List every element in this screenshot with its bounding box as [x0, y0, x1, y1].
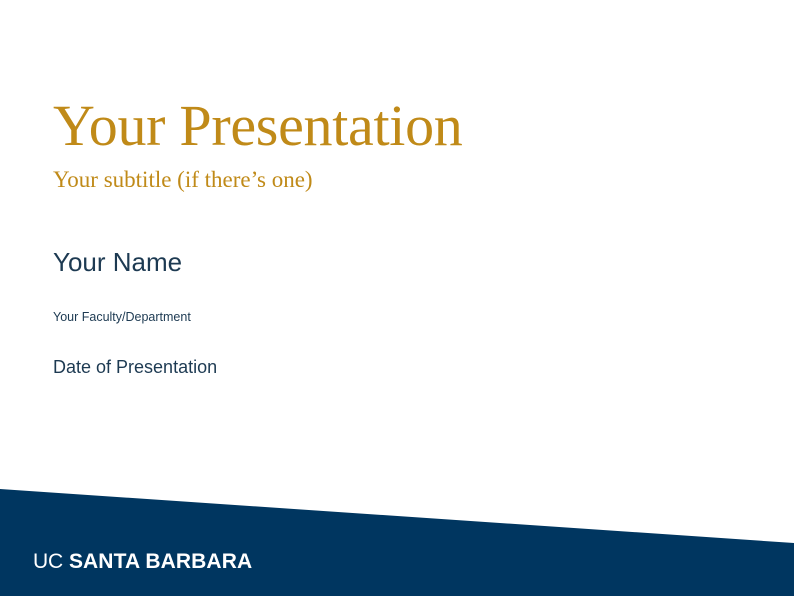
logo-campus-text: SANTA BARBARA: [69, 550, 252, 574]
logo-uc-text: UC: [33, 550, 63, 574]
presenter-department: Your Faculty/Department: [53, 310, 713, 325]
presenter-name: Your Name: [53, 248, 713, 277]
ucsb-logo: UC SANTA BARBARA: [33, 550, 252, 574]
footer-navy-band: [0, 476, 794, 596]
slide-subtitle: Your subtitle (if there’s one): [53, 167, 713, 192]
slide-title: Your Presentation: [53, 96, 713, 155]
title-slide: Your Presentation Your subtitle (if ther…: [0, 0, 794, 596]
presentation-date: Date of Presentation: [53, 357, 713, 379]
title-text-block: Your Presentation Your subtitle (if ther…: [53, 96, 713, 379]
angled-band-shape: [0, 476, 794, 596]
